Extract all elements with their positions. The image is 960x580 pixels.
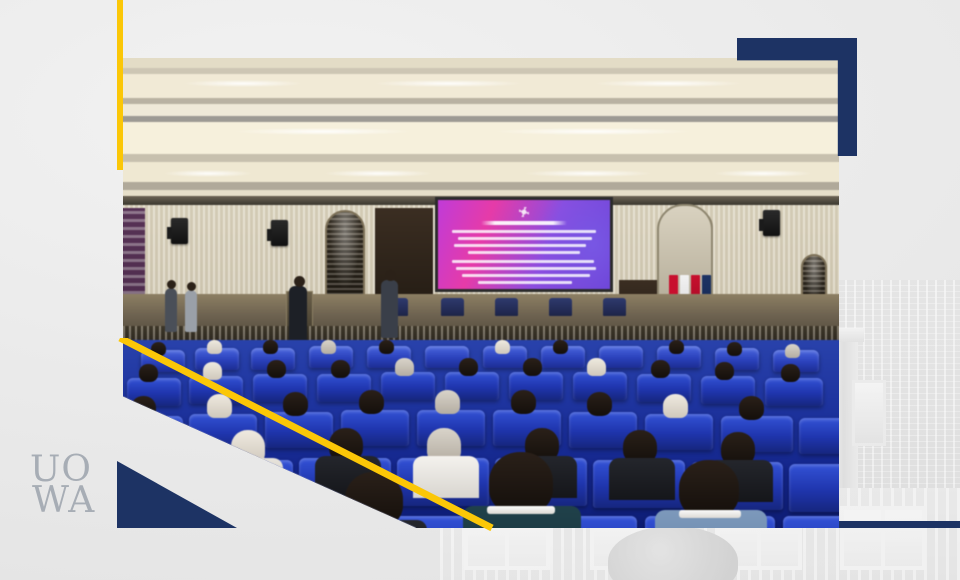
audience-member-head <box>587 358 606 376</box>
navy-triangle-accent <box>117 461 237 528</box>
audience-member-head <box>553 340 568 354</box>
stage-chair <box>603 298 626 316</box>
decorative-mashrabiya-panel <box>325 210 365 302</box>
audience-member-head <box>359 390 384 414</box>
person-head <box>167 280 176 289</box>
audience-member-head <box>331 360 350 378</box>
stage-chair <box>549 298 572 316</box>
audience-member-body <box>413 456 479 498</box>
ceiling-light <box>593 80 743 87</box>
auditorium-seat <box>201 460 293 508</box>
standing-person <box>165 288 177 332</box>
audience-member-head <box>663 394 688 418</box>
audience-seating <box>123 340 839 528</box>
auditorium-seat <box>765 378 823 406</box>
person-head <box>187 282 196 291</box>
ceiling-light <box>233 128 413 135</box>
person-head <box>294 276 305 287</box>
logo-line-2: WA <box>32 486 95 517</box>
university-crest-icon <box>519 207 529 217</box>
standing-person <box>381 280 398 338</box>
audience-member-head <box>489 452 553 514</box>
audience-member-head <box>587 392 612 416</box>
shirt-collar <box>487 506 555 514</box>
audience-member-head <box>345 472 403 528</box>
auditorium-seat <box>231 516 361 528</box>
shirt-collar <box>679 510 741 518</box>
gold-vertical-rule <box>117 0 123 170</box>
audience-member-head <box>523 358 542 376</box>
auditorium-seat <box>783 516 839 528</box>
audience-member-head <box>669 340 684 354</box>
audience-member-head <box>495 340 510 354</box>
wall-speaker <box>763 210 780 236</box>
audience-member-head <box>263 340 278 354</box>
audience-member-body <box>609 458 675 500</box>
audience-member-head <box>781 364 800 382</box>
audience-member-body <box>217 458 283 498</box>
ceiling-light <box>163 170 253 177</box>
standing-person <box>185 290 197 332</box>
ceiling-light <box>183 80 303 87</box>
audience-member-head <box>321 340 336 354</box>
watermark-window <box>840 506 926 570</box>
audience-member-head <box>283 392 308 416</box>
audience-member-head <box>207 394 232 418</box>
page-canvas: UO WA <box>0 0 960 580</box>
watermark-shrub <box>608 526 738 580</box>
audience-member-head <box>139 364 158 382</box>
ceiling-light <box>713 170 813 177</box>
auditorium-seat <box>123 416 183 452</box>
person-head <box>385 270 396 281</box>
wall-speaker <box>271 220 288 246</box>
ceiling-light <box>323 170 433 177</box>
auditorium-seat <box>789 464 839 512</box>
audience-member-head <box>133 432 167 466</box>
led-presentation-screen <box>435 197 613 292</box>
audience-member-head <box>785 344 800 358</box>
ceiling-light <box>493 128 693 135</box>
stage-chair <box>441 298 464 316</box>
audience-member-head <box>459 358 478 376</box>
audience-member-head <box>151 342 166 356</box>
audience-member-head <box>203 362 222 380</box>
ceiling-light <box>373 80 523 87</box>
auditorium-scene <box>123 58 839 528</box>
auditorium-seat <box>799 418 839 454</box>
wall-speaker <box>171 218 188 244</box>
screen-heading-text <box>438 221 610 225</box>
audience-member-body <box>321 520 427 528</box>
audience-member-head <box>131 396 156 420</box>
audience-member-head <box>651 360 670 378</box>
audience-member-head <box>435 390 460 414</box>
audience-member-head <box>727 342 742 356</box>
event-photo <box>123 58 839 528</box>
audience-member-head <box>207 340 222 354</box>
auditorium-seat <box>265 412 333 448</box>
audience-member-head <box>715 362 734 380</box>
audience-member-head <box>231 430 265 464</box>
audience-member-head <box>267 360 286 378</box>
audience-member-head <box>739 396 764 420</box>
uowa-logo: UO WA <box>30 455 95 517</box>
auditorium-seat <box>381 372 435 400</box>
audience-member-head <box>395 358 414 376</box>
audience-member-head <box>511 390 536 414</box>
stage-chair <box>495 298 518 316</box>
standing-person <box>289 286 307 344</box>
watermark-window <box>852 380 886 446</box>
audience-member-head <box>379 340 394 354</box>
ceiling-light <box>523 170 653 177</box>
